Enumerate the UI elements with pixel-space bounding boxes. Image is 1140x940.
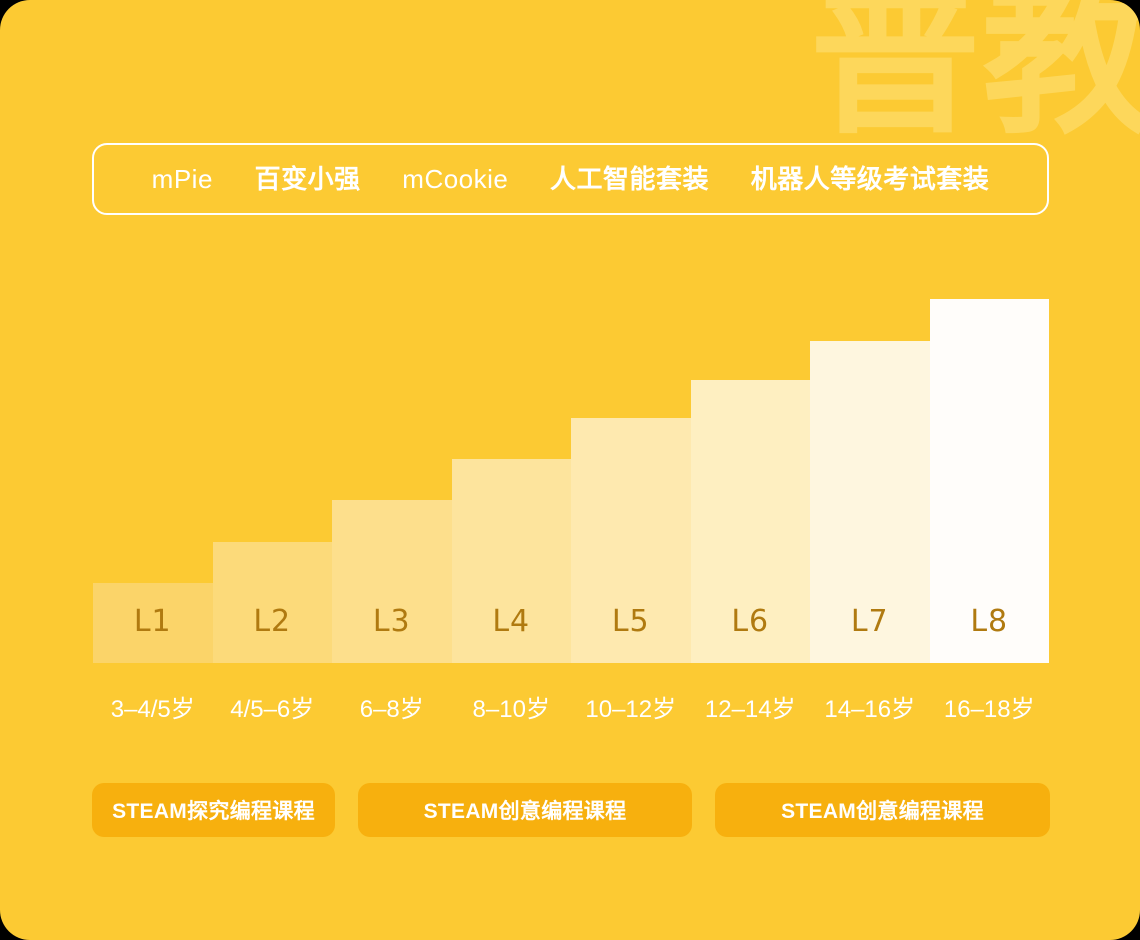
- chart-bar-l8: L8: [930, 299, 1050, 663]
- course-pill-explore[interactable]: STEAM探究编程课程: [92, 783, 335, 837]
- age-label-l5: 10–12岁: [571, 698, 691, 722]
- chart-bar-l7: L7: [810, 341, 930, 663]
- chart-bar-l2: L2: [213, 542, 333, 663]
- watermark-text: 普教: [810, 0, 1140, 144]
- product-series-bar: mPie 百变小强 mCookie 人工智能套装 机器人等级考试套装: [92, 143, 1049, 215]
- age-label-l2: 4/5–6岁: [213, 698, 333, 722]
- course-level-card: 普教 mPie 百变小强 mCookie 人工智能套装 机器人等级考试套装 L1…: [0, 0, 1140, 940]
- chart-bar-l1: L1: [93, 583, 213, 663]
- product-item-ai-kit[interactable]: 人工智能套装: [550, 166, 709, 192]
- chart-bar-label-l2: L2: [253, 607, 291, 663]
- product-item-baibianxiaoqiang[interactable]: 百变小强: [255, 166, 361, 192]
- course-pill-creative-2[interactable]: STEAM创意编程课程: [715, 783, 1050, 837]
- age-label-l7: 14–16岁: [810, 698, 930, 722]
- course-pill-row: STEAM探究编程课程 STEAM创意编程课程 STEAM创意编程课程: [92, 783, 1050, 837]
- chart-bar-l4: L4: [452, 459, 572, 663]
- age-label-l6: 12–14岁: [691, 698, 811, 722]
- product-item-mpie[interactable]: mPie: [152, 166, 213, 192]
- level-bar-chart: L1 L2 L3 L4 L5 L6 L7 L8: [93, 290, 1049, 663]
- age-label-l4: 8–10岁: [452, 698, 572, 722]
- chart-bar-label-l4: L4: [492, 607, 530, 663]
- chart-bar-l3: L3: [332, 500, 452, 663]
- chart-bar-label-l8: L8: [970, 607, 1008, 663]
- course-pill-creative-1[interactable]: STEAM创意编程课程: [358, 783, 692, 837]
- chart-bar-label-l6: L6: [731, 607, 769, 663]
- chart-bar-l5: L5: [571, 418, 691, 663]
- product-item-robot-exam-kit[interactable]: 机器人等级考试套装: [751, 166, 990, 192]
- age-range-row: 3–4/5岁 4/5–6岁 6–8岁 8–10岁 10–12岁 12–14岁 1…: [93, 698, 1049, 722]
- age-label-l3: 6–8岁: [332, 698, 452, 722]
- chart-bar-label-l1: L1: [134, 607, 172, 663]
- age-label-l1: 3–4/5岁: [93, 698, 213, 722]
- chart-bar-l6: L6: [691, 380, 811, 663]
- chart-bar-label-l5: L5: [612, 607, 650, 663]
- chart-bar-label-l7: L7: [851, 607, 889, 663]
- product-item-mcookie[interactable]: mCookie: [402, 166, 508, 192]
- chart-bar-label-l3: L3: [373, 607, 411, 663]
- age-label-l8: 16–18岁: [930, 698, 1050, 722]
